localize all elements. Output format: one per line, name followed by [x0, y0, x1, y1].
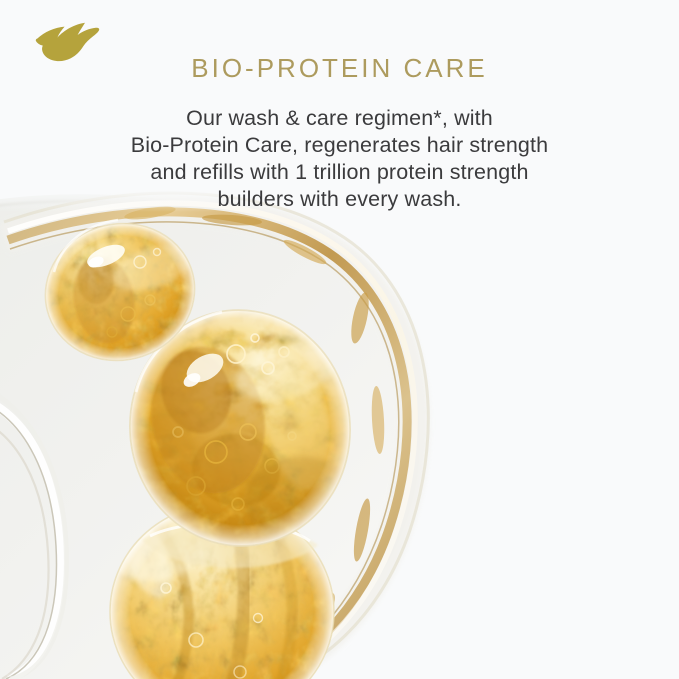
promo-banner: BIO-PROTEIN CARE Our wash & care regimen… — [0, 0, 679, 679]
body-line: Bio-Protein Care, regenerates hair stren… — [0, 132, 679, 159]
body-line: and refills with 1 trillion protein stre… — [0, 159, 679, 186]
body-line: Our wash & care regimen*, with — [0, 105, 679, 132]
copy-block: BIO-PROTEIN CARE Our wash & care regimen… — [0, 54, 679, 213]
page-title: BIO-PROTEIN CARE — [0, 54, 679, 83]
body-line: builders with every wash. — [0, 186, 679, 213]
body-paragraph: Our wash & care regimen*, with Bio-Prote… — [0, 105, 679, 213]
